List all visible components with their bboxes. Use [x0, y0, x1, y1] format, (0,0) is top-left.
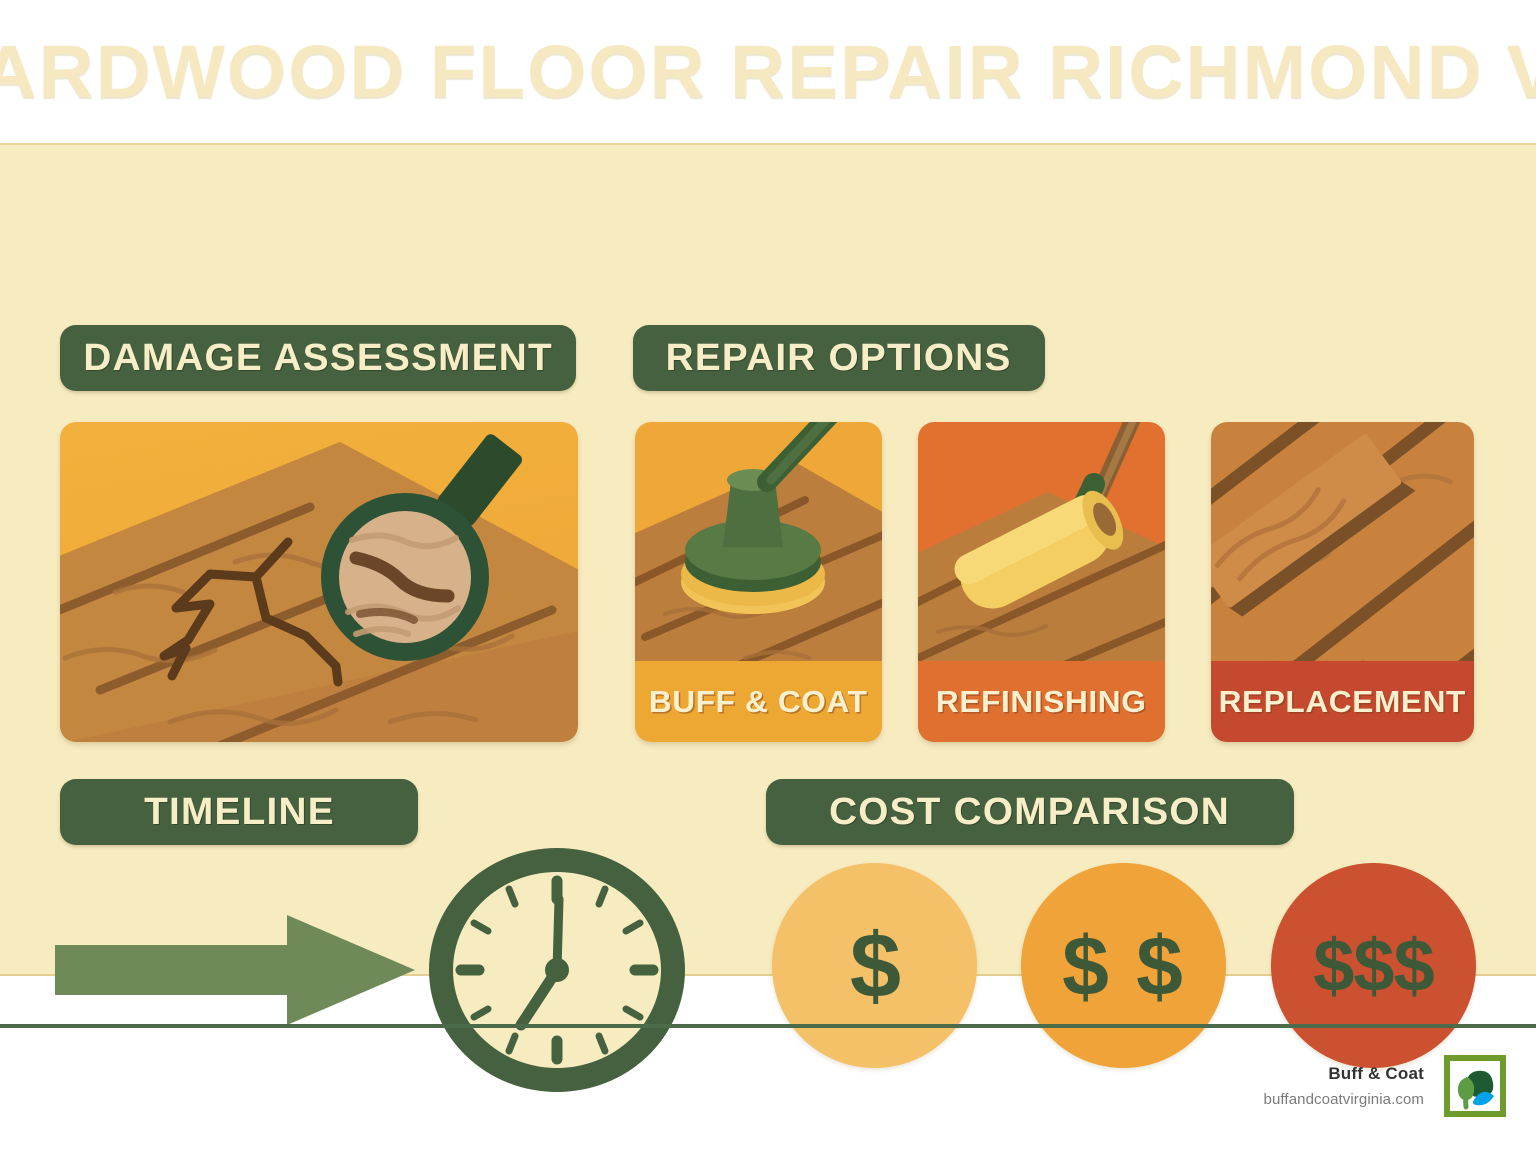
repair-option-card-buff-and-coat[interactable]: BUFF & COAT	[635, 422, 882, 742]
leaf-logo-icon	[1444, 1055, 1506, 1117]
cost-tier-symbol: $ $	[1062, 924, 1185, 1008]
cost-tier-high[interactable]: $$$	[1271, 863, 1476, 1068]
section-badge-repair-options: REPAIR OPTIONS	[633, 325, 1045, 391]
footer-brand-name: Buff & Coat	[1264, 1064, 1424, 1084]
card-label: REPLACEMENT	[1219, 684, 1466, 720]
timeline-arrow	[55, 915, 415, 1025]
infographic-panel: DAMAGE ASSESSMENT REPAIR OPTIONS	[0, 143, 1536, 976]
section-badge-damage-assessment: DAMAGE ASSESSMENT	[60, 325, 576, 391]
section-badge-label: DAMAGE ASSESSMENT	[83, 337, 552, 380]
footer: Buff & Coat buffandcoatvirginia.com	[1264, 1055, 1506, 1117]
footer-website-url[interactable]: buffandcoatvirginia.com	[1264, 1091, 1424, 1108]
cost-tier-symbol: $$$	[1313, 929, 1433, 1003]
cost-tier-medium[interactable]: $ $	[1021, 863, 1226, 1068]
card-label: REFINISHING	[936, 684, 1147, 720]
title-bar: HARDWOOD FLOOR REPAIR RICHMOND VA	[0, 0, 1536, 143]
repair-option-card-refinishing[interactable]: REFINISHING	[918, 422, 1165, 742]
right-arrow-icon	[55, 915, 415, 1025]
section-badge-label: TIMELINE	[144, 791, 335, 834]
buff-and-coat-leaf-logo[interactable]	[1444, 1055, 1506, 1117]
page-title: HARDWOOD FLOOR REPAIR RICHMOND VA	[0, 29, 1536, 114]
section-badge-label: COST COMPARISON	[830, 791, 1231, 834]
footer-divider	[0, 1024, 1536, 1028]
card-label-band: BUFF & COAT	[635, 661, 882, 742]
section-badge-label: REPAIR OPTIONS	[666, 337, 1012, 380]
section-badge-timeline: TIMELINE	[60, 779, 418, 845]
cracked-floor-magnifier-icon	[60, 422, 578, 742]
cost-tier-low[interactable]: $	[772, 863, 977, 1068]
card-label-band: REFINISHING	[918, 661, 1165, 742]
cost-tier-symbol: $	[850, 920, 899, 1012]
clock-icon	[425, 845, 690, 1095]
damage-assessment-illustration	[60, 422, 578, 742]
card-label: BUFF & COAT	[649, 684, 868, 720]
repair-option-card-replacement[interactable]: REPLACEMENT	[1211, 422, 1474, 742]
card-label-band: REPLACEMENT	[1211, 661, 1474, 742]
footer-text-block: Buff & Coat buffandcoatvirginia.com	[1264, 1064, 1424, 1108]
timeline-clock	[425, 845, 690, 1095]
section-badge-cost-comparison: COST COMPARISON	[766, 779, 1294, 845]
